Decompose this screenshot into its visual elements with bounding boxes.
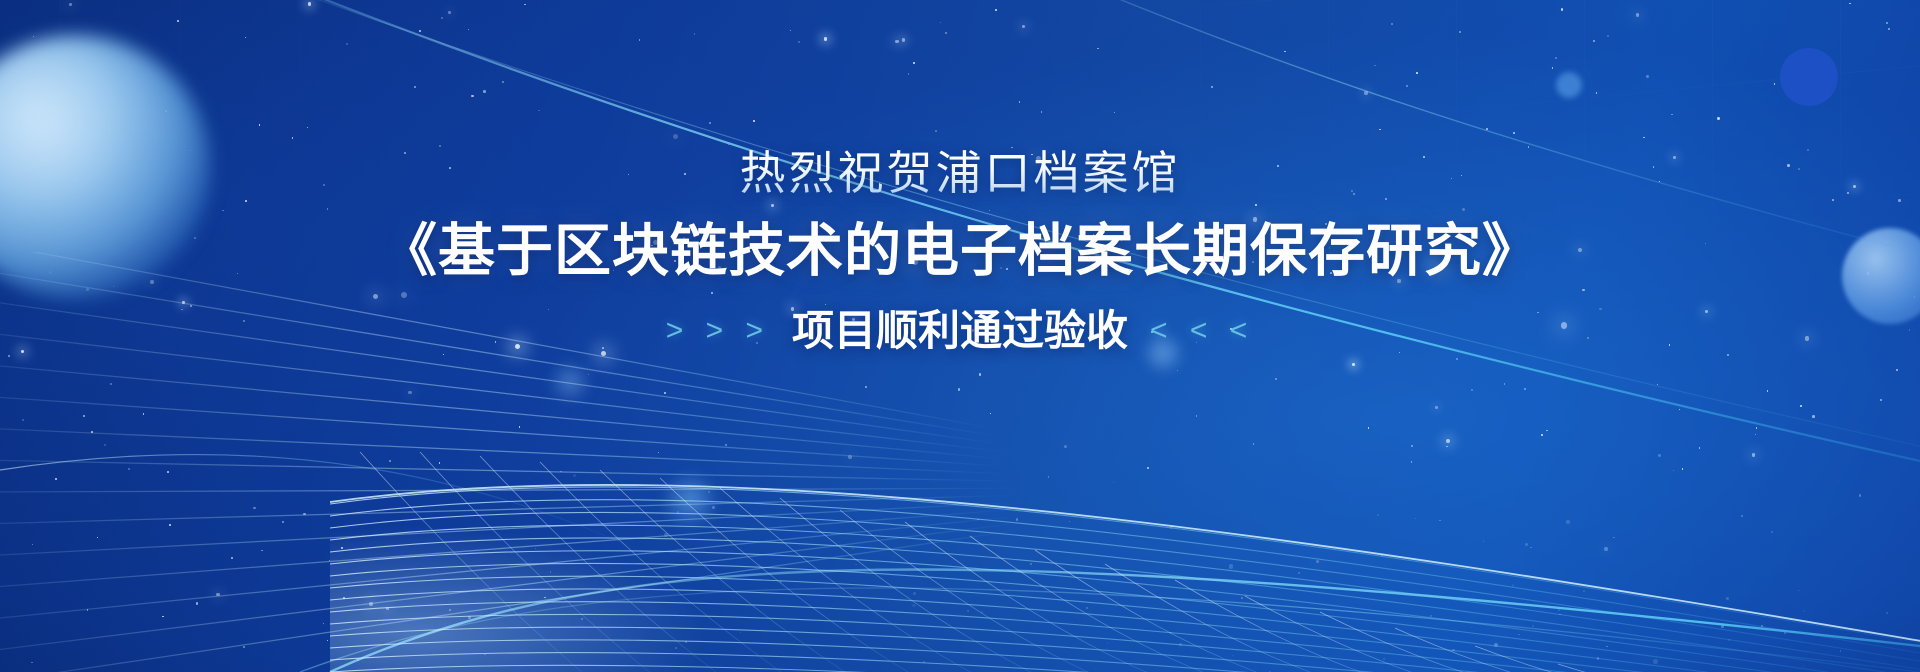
chevron-right-triple-icon: > > >	[666, 314, 770, 347]
celebration-banner: 热烈祝贺浦口档案馆 《基于区块链技术的电子档案长期保存研究》 > > > 项目顺…	[0, 0, 1920, 672]
headline-line-2-project-title: 《基于区块链技术的电子档案长期保存研究》	[380, 222, 1540, 282]
headline-line-3-text: 项目顺利通过验收	[792, 308, 1128, 354]
headline-block: 热烈祝贺浦口档案馆 《基于区块链技术的电子档案长期保存研究》 > > > 项目顺…	[0, 0, 1920, 672]
headline-line-1: 热烈祝贺浦口档案馆	[740, 150, 1181, 196]
chevron-left-triple-icon: < < <	[1150, 314, 1254, 347]
headline-line-3: > > > 项目顺利通过验收 < < <	[666, 308, 1254, 354]
